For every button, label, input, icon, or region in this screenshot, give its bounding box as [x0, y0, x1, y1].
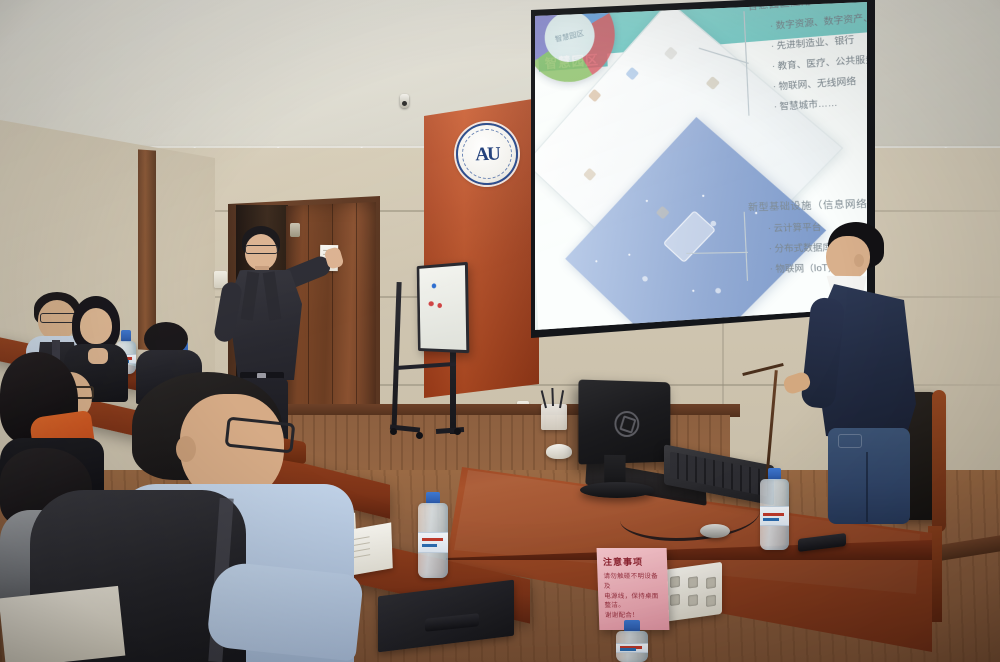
notice-line: 电源线，保持桌面整洁。 [604, 591, 663, 610]
slide-bullet: · 数字资源、数字资产、交易所 [770, 8, 867, 32]
bottle-label [418, 532, 448, 554]
crest-ring [461, 128, 513, 180]
slide-donut-center-label: 智慧园区 [554, 28, 585, 45]
notice-title: 注意事项 [603, 555, 661, 568]
slide-bullet: · 教育、医疗、公共服务 [772, 50, 867, 72]
slide-section-upper: 智慧园区应用（小区智慧应用） · 数字资源、数字资产、交易所 · 先进制造业、银… [748, 2, 867, 114]
slide-bullet: · 物联网、无线网络 [773, 71, 867, 93]
mobile-whiteboard-flipchart[interactable] [417, 262, 470, 353]
notice-line: 请勿触碰不明设备及 [603, 572, 662, 591]
dell-monitor[interactable] [578, 380, 670, 465]
water-bottle[interactable] [760, 468, 789, 550]
water-bottle[interactable] [418, 492, 448, 578]
camera-lens-icon [402, 101, 407, 106]
glasses-icon [245, 245, 278, 254]
presenter-right [806, 222, 936, 522]
dell-logo-icon [614, 411, 639, 437]
wall-wood-trim [138, 149, 156, 350]
conference-room-scene: AU 智慧园区 [0, 0, 1000, 662]
mouse[interactable] [546, 444, 572, 459]
paper-pad[interactable] [0, 586, 125, 662]
table-cable-grommet [700, 524, 730, 538]
security-camera-icon [400, 94, 409, 108]
slide-iso-chip [663, 210, 716, 263]
slide-bullet: · 先进制造业、银行 [771, 29, 867, 52]
power-strip[interactable] [662, 562, 722, 622]
bottle-label [760, 506, 789, 526]
attendee-foreground-sleeve [206, 560, 364, 661]
notice-card: 注意事项 请勿触碰不明设备及 电源线，保持桌面整洁。 谢谢配合！ [597, 548, 670, 630]
pen-holder[interactable] [541, 404, 567, 430]
bottle-label [616, 643, 648, 653]
water-bottle[interactable] [616, 620, 648, 662]
